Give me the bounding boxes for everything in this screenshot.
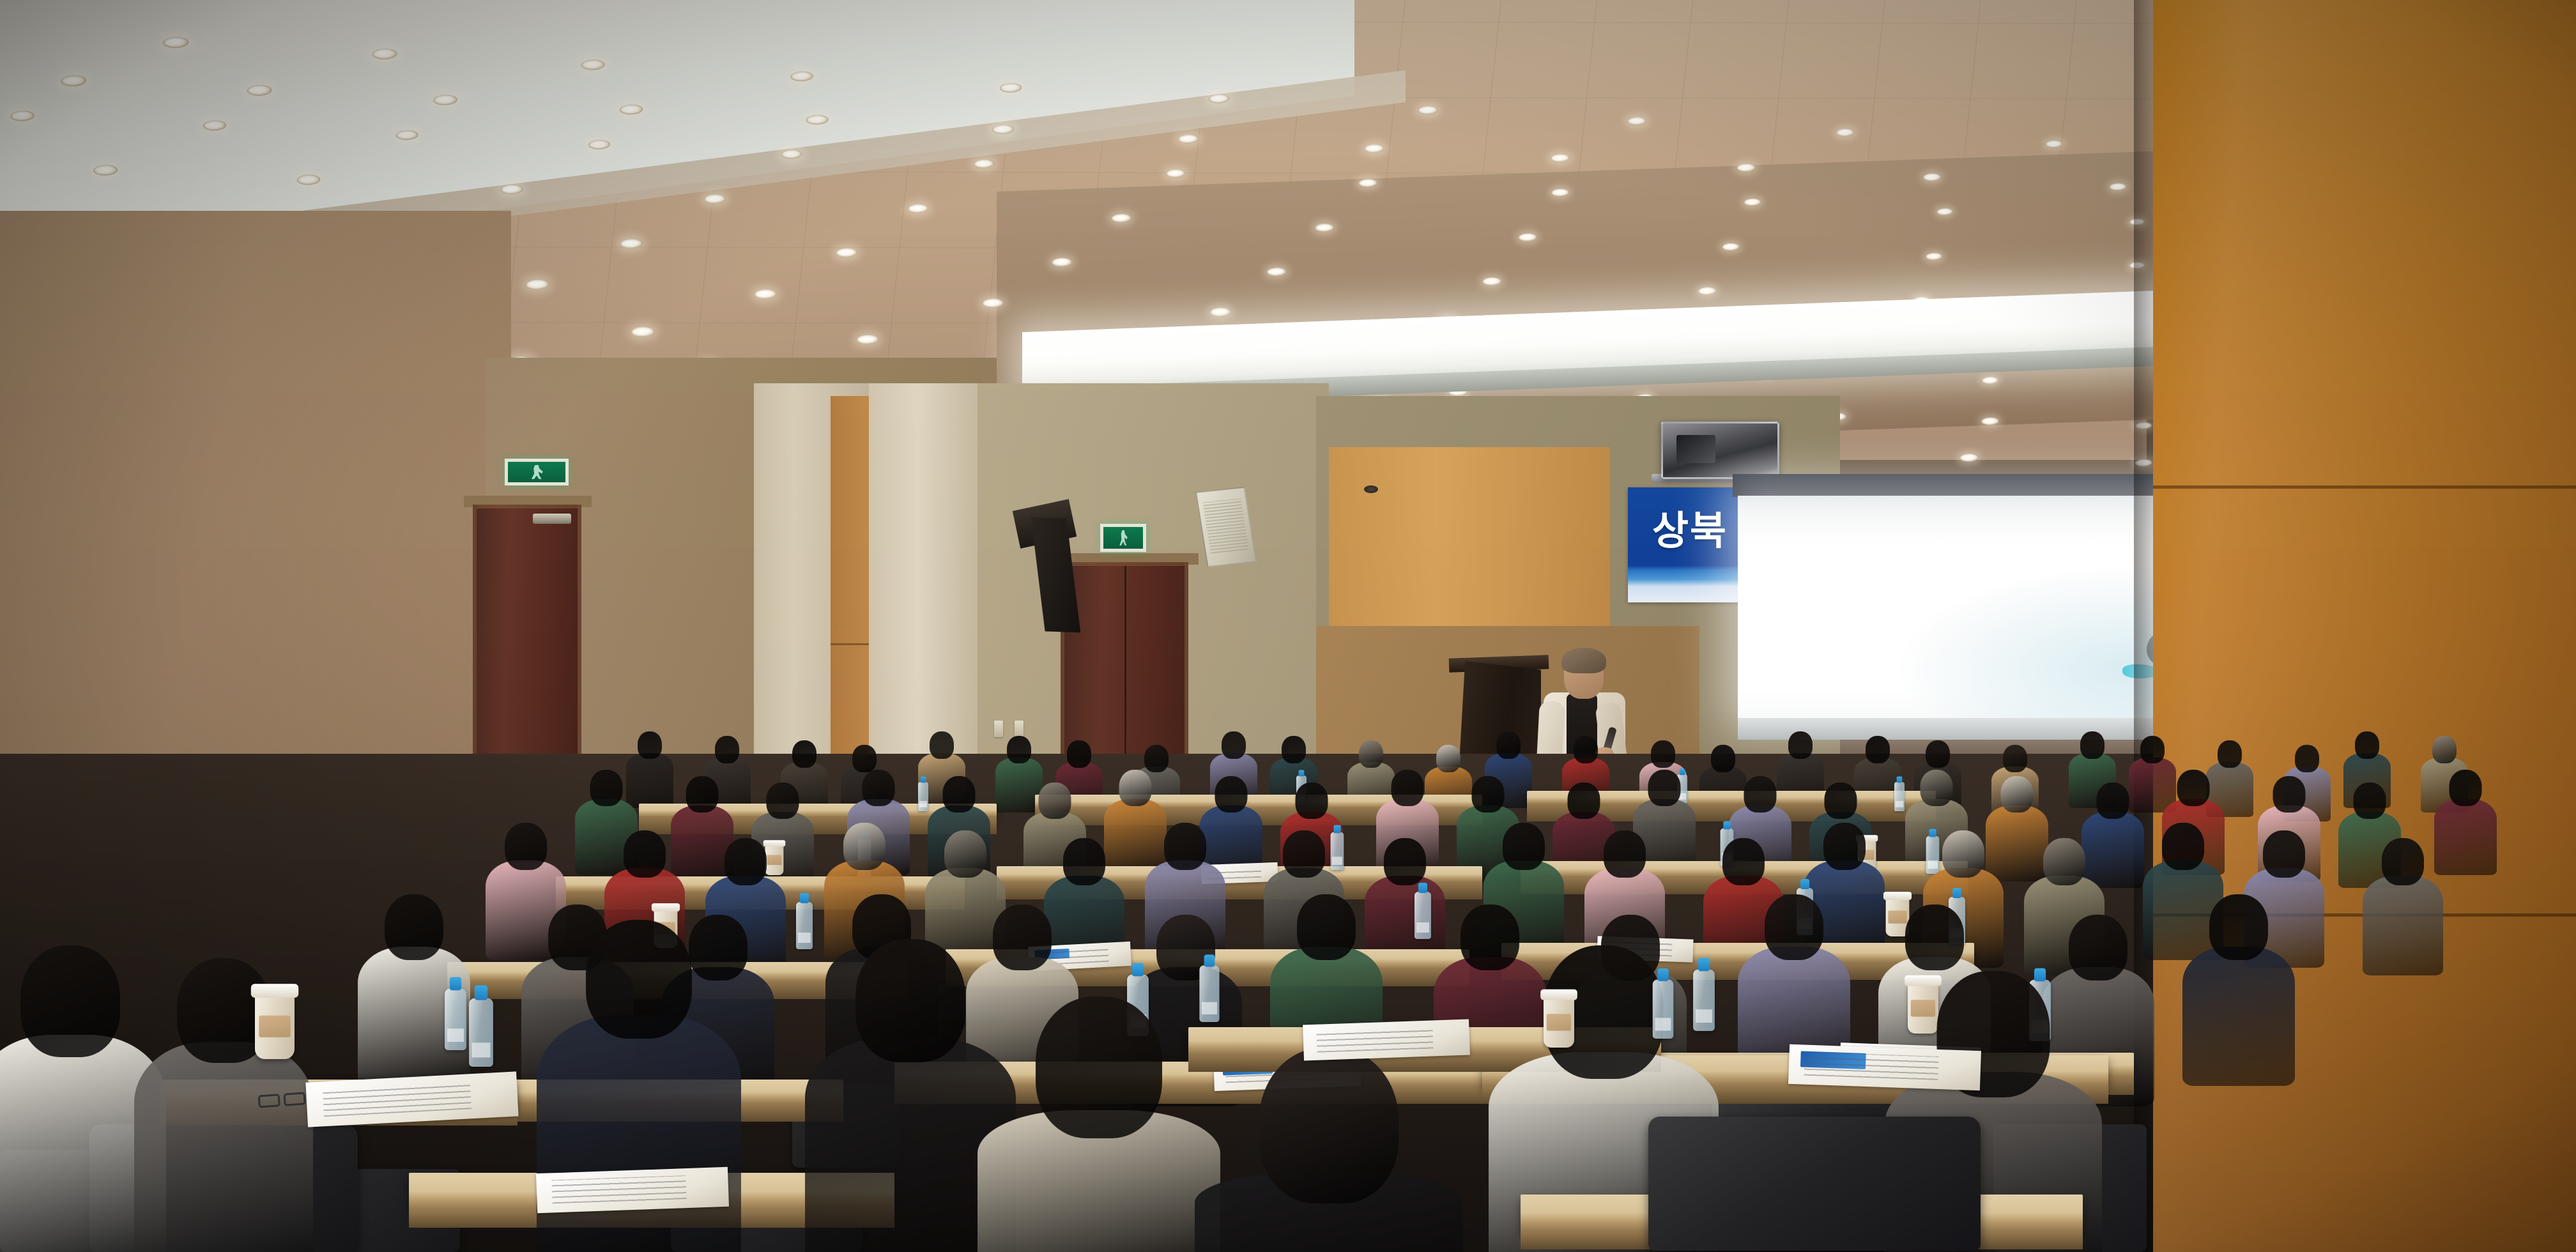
backpack[interactable] <box>1648 1117 1981 1251</box>
handout-text-lines <box>1316 1027 1433 1053</box>
attendee-head <box>20 945 120 1057</box>
printed-handout[interactable] <box>1788 1044 1981 1090</box>
attendee-head <box>1926 740 1950 768</box>
attendee-head <box>1604 830 1646 878</box>
ceiling-downlight <box>1960 454 1979 462</box>
attendee-torso <box>2434 799 2497 875</box>
attendee-head <box>1259 1048 1399 1203</box>
running-man-glyph <box>1119 530 1128 546</box>
water-bottle[interactable] <box>1414 892 1431 939</box>
water-bottle[interactable] <box>1199 965 1219 1022</box>
attendee-head <box>2080 731 2104 759</box>
attendee-head <box>1574 736 1598 763</box>
attendee-head <box>2355 731 2379 759</box>
attendee-head <box>1472 776 1505 813</box>
seminar-room-photo: 상북 크닉 <box>0 0 2576 1252</box>
attendee-head <box>1282 736 1306 763</box>
attendee-head <box>930 731 954 759</box>
banner-text-left: 상북 <box>1652 512 1728 551</box>
attendee-head <box>1063 838 1105 885</box>
attendee-head <box>1905 905 1964 970</box>
water-bottle[interactable] <box>918 782 928 811</box>
attendee-head <box>1164 823 1206 870</box>
attendee-head <box>944 830 986 878</box>
attendee-head <box>2043 838 2085 885</box>
attendee-head <box>1648 770 1681 806</box>
attendee-head <box>792 740 816 768</box>
attendee-cream-knit <box>977 996 1220 1252</box>
attendee-head <box>385 894 443 960</box>
handout-text-lines <box>1804 1052 1938 1080</box>
attendee-head <box>843 823 885 870</box>
attendee-head <box>2209 894 2268 960</box>
attendee-head <box>1384 838 1426 885</box>
attendee-head <box>2001 776 2034 813</box>
ceiling-projector-icon <box>1661 422 1779 479</box>
attendee-head <box>1823 823 1866 870</box>
attendee-head <box>862 770 895 806</box>
attendee-head <box>2140 736 2165 763</box>
attendee-head <box>1503 823 1545 870</box>
attendee-head <box>1391 770 1424 806</box>
attendee-torso <box>537 1015 741 1252</box>
attendee-head <box>505 823 547 870</box>
light-switch-right-b[interactable] <box>1015 721 1023 737</box>
attendee-head <box>1283 830 1325 878</box>
attendee-head <box>2263 830 2305 878</box>
attendee-head <box>1765 894 1823 960</box>
attendee-head <box>1007 736 1031 763</box>
attendee-head <box>1825 782 1857 819</box>
water-bottle[interactable] <box>469 998 493 1067</box>
attendee-head <box>1942 830 1984 878</box>
attendee-head <box>2003 745 2027 772</box>
attendee-head <box>638 731 662 759</box>
door-closer-icon <box>533 514 571 524</box>
attendee-head <box>2382 838 2424 885</box>
attendee-head <box>724 838 767 885</box>
attendee-head <box>1144 745 1169 772</box>
presenter-hair <box>1561 648 1606 673</box>
pillar-seam-upper <box>2153 485 2576 489</box>
attendee-striped-gray <box>2363 838 2443 975</box>
attendee-head <box>2177 770 2210 806</box>
attendee-head <box>1222 731 1246 759</box>
attendee-head <box>1788 731 1813 759</box>
attendee-head <box>943 776 976 813</box>
light-switch-right-a[interactable] <box>994 721 1003 737</box>
attendee-head <box>1496 731 1521 759</box>
attendee-head <box>1920 770 1953 806</box>
water-bottle[interactable] <box>1653 980 1674 1039</box>
attendee-head <box>2097 782 2129 819</box>
printed-handout[interactable] <box>536 1167 729 1213</box>
attendee-head <box>767 782 799 819</box>
attendee-head <box>2449 770 2482 806</box>
attendee-head <box>2354 782 2386 819</box>
attendee-torso <box>2363 876 2443 975</box>
attendee-head <box>686 776 719 813</box>
attendee-dark-navy <box>2182 894 2295 1086</box>
attendee-head <box>1296 782 1328 819</box>
attendee-head <box>1215 776 1248 813</box>
smoke-detector-icon <box>1364 485 1378 493</box>
attendee-head <box>1711 745 1735 772</box>
attendee-head <box>1297 894 1356 960</box>
attendee-head <box>624 830 666 878</box>
running-man-glyph <box>530 465 544 479</box>
attendee-head <box>2295 745 2319 772</box>
attendee-head <box>852 745 877 772</box>
attendee-head <box>1568 782 1600 819</box>
attendee-head <box>1119 770 1152 806</box>
attendee-head <box>590 770 623 806</box>
coffee-cup[interactable] <box>1544 997 1574 1048</box>
attendee-head <box>1866 736 1890 763</box>
attendee-maroon-top <box>2434 770 2497 875</box>
attendee-head <box>2218 740 2242 768</box>
attendee-head <box>1359 740 1383 768</box>
handout-text-lines <box>323 1082 471 1117</box>
attendee-head <box>2273 776 2306 813</box>
attendee-torso <box>2182 947 2295 1086</box>
attendee-torso <box>134 1042 313 1252</box>
water-bottle[interactable] <box>445 989 466 1050</box>
attendee-head <box>1651 740 1675 768</box>
attendee-head <box>1039 782 1071 819</box>
attendee-head <box>2162 823 2204 870</box>
printed-handout[interactable] <box>1303 1019 1470 1060</box>
attendee-head <box>1067 740 1091 768</box>
attendee-head <box>855 939 965 1062</box>
attendee-head <box>1436 745 1460 772</box>
attendee-head <box>586 920 692 1039</box>
handout-text-lines <box>551 1175 686 1203</box>
water-bottle[interactable] <box>1894 782 1905 811</box>
attendee-head <box>1036 996 1162 1138</box>
attendee-head <box>1722 838 1765 885</box>
exit-sign-right-icon <box>1100 524 1146 552</box>
coffee-cup[interactable] <box>255 994 295 1059</box>
exit-sign-left-icon <box>505 459 569 485</box>
attendee-head <box>715 736 739 763</box>
attendee-head <box>2432 736 2457 763</box>
attendee-pink-trim <box>1195 1048 1463 1252</box>
attendee-head <box>1744 776 1777 813</box>
